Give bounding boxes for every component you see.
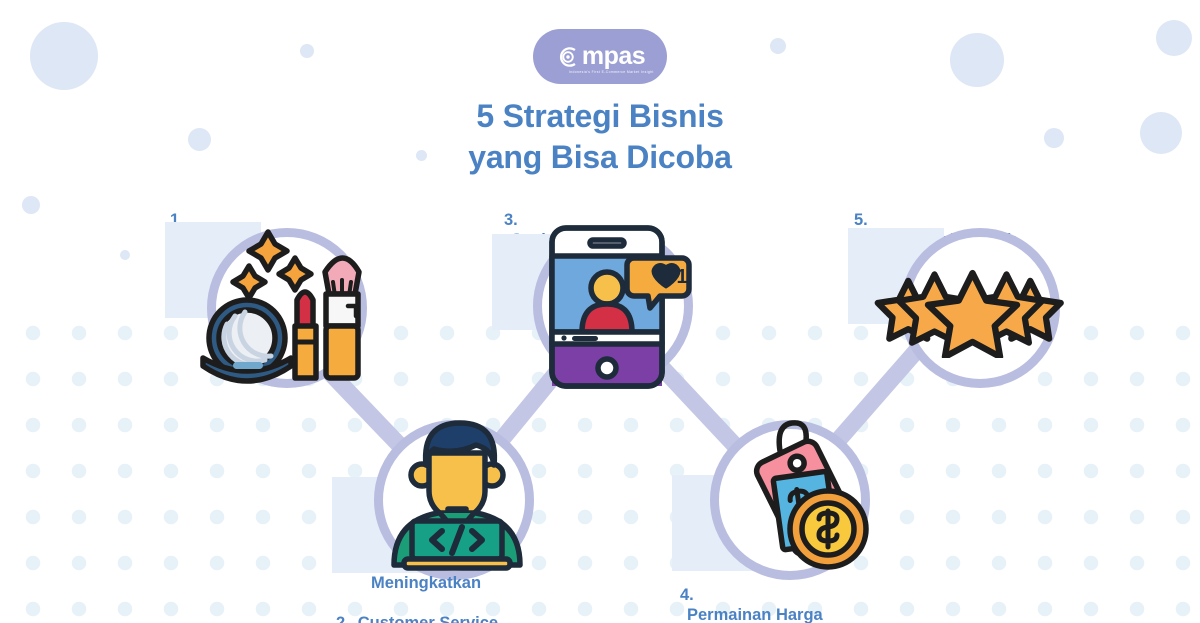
page-title-line2: yang Bisa Dicoba xyxy=(0,137,1200,178)
compas-c-icon xyxy=(555,44,581,70)
customer-service-agent-icon xyxy=(374,413,539,573)
strategy-node-1[interactable]: 1. Cross Selling xyxy=(155,190,395,410)
compas-logo[interactable]: mpas Indonesia's First E-Commerce Market… xyxy=(533,29,667,84)
price-tag-coin-icon xyxy=(706,413,881,578)
strategy-node-5[interactable]: 5. Diferensiasi Produk xyxy=(838,190,1088,410)
compas-logo-tagline: Indonesia's First E-Commerce Market Insi… xyxy=(569,70,654,74)
strategy-node-3[interactable]: 3. Social Media Marketing xyxy=(492,190,722,410)
strategy-2-title: Customer Service xyxy=(358,613,498,623)
page-title-line1: 5 Strategi Bisnis xyxy=(0,96,1200,137)
infographic-canvas: 1. Cross Selling xyxy=(0,0,1200,623)
strategy-2-number: 2. xyxy=(336,613,350,623)
strategy-2-label: Meningkatkan 2. Customer Service xyxy=(336,553,566,623)
strategy-2-title-line1: Meningkatkan xyxy=(371,573,566,593)
five-stars-rating-icon xyxy=(874,248,1074,358)
strategy-4-number: 4. xyxy=(680,585,694,605)
strategy-4-label: 4. Permainan Harga xyxy=(680,565,920,623)
strategy-3-number: 3. xyxy=(504,210,518,230)
page-title: 5 Strategi Bisnis yang Bisa Dicoba xyxy=(0,96,1200,178)
strategy-4-title: Permainan Harga xyxy=(687,606,823,623)
smartphone-social-post-icon: 1 xyxy=(522,220,702,395)
strategy-node-2[interactable]: Meningkatkan 2. Customer Service xyxy=(330,405,560,605)
cosmetics-makeup-icon xyxy=(185,210,375,400)
compas-logo-text: mpas xyxy=(582,44,645,69)
strategy-5-number: 5. xyxy=(854,210,868,230)
like-count: 1 xyxy=(676,266,687,288)
strategy-node-4[interactable]: 4. Permainan Harga xyxy=(668,405,908,605)
